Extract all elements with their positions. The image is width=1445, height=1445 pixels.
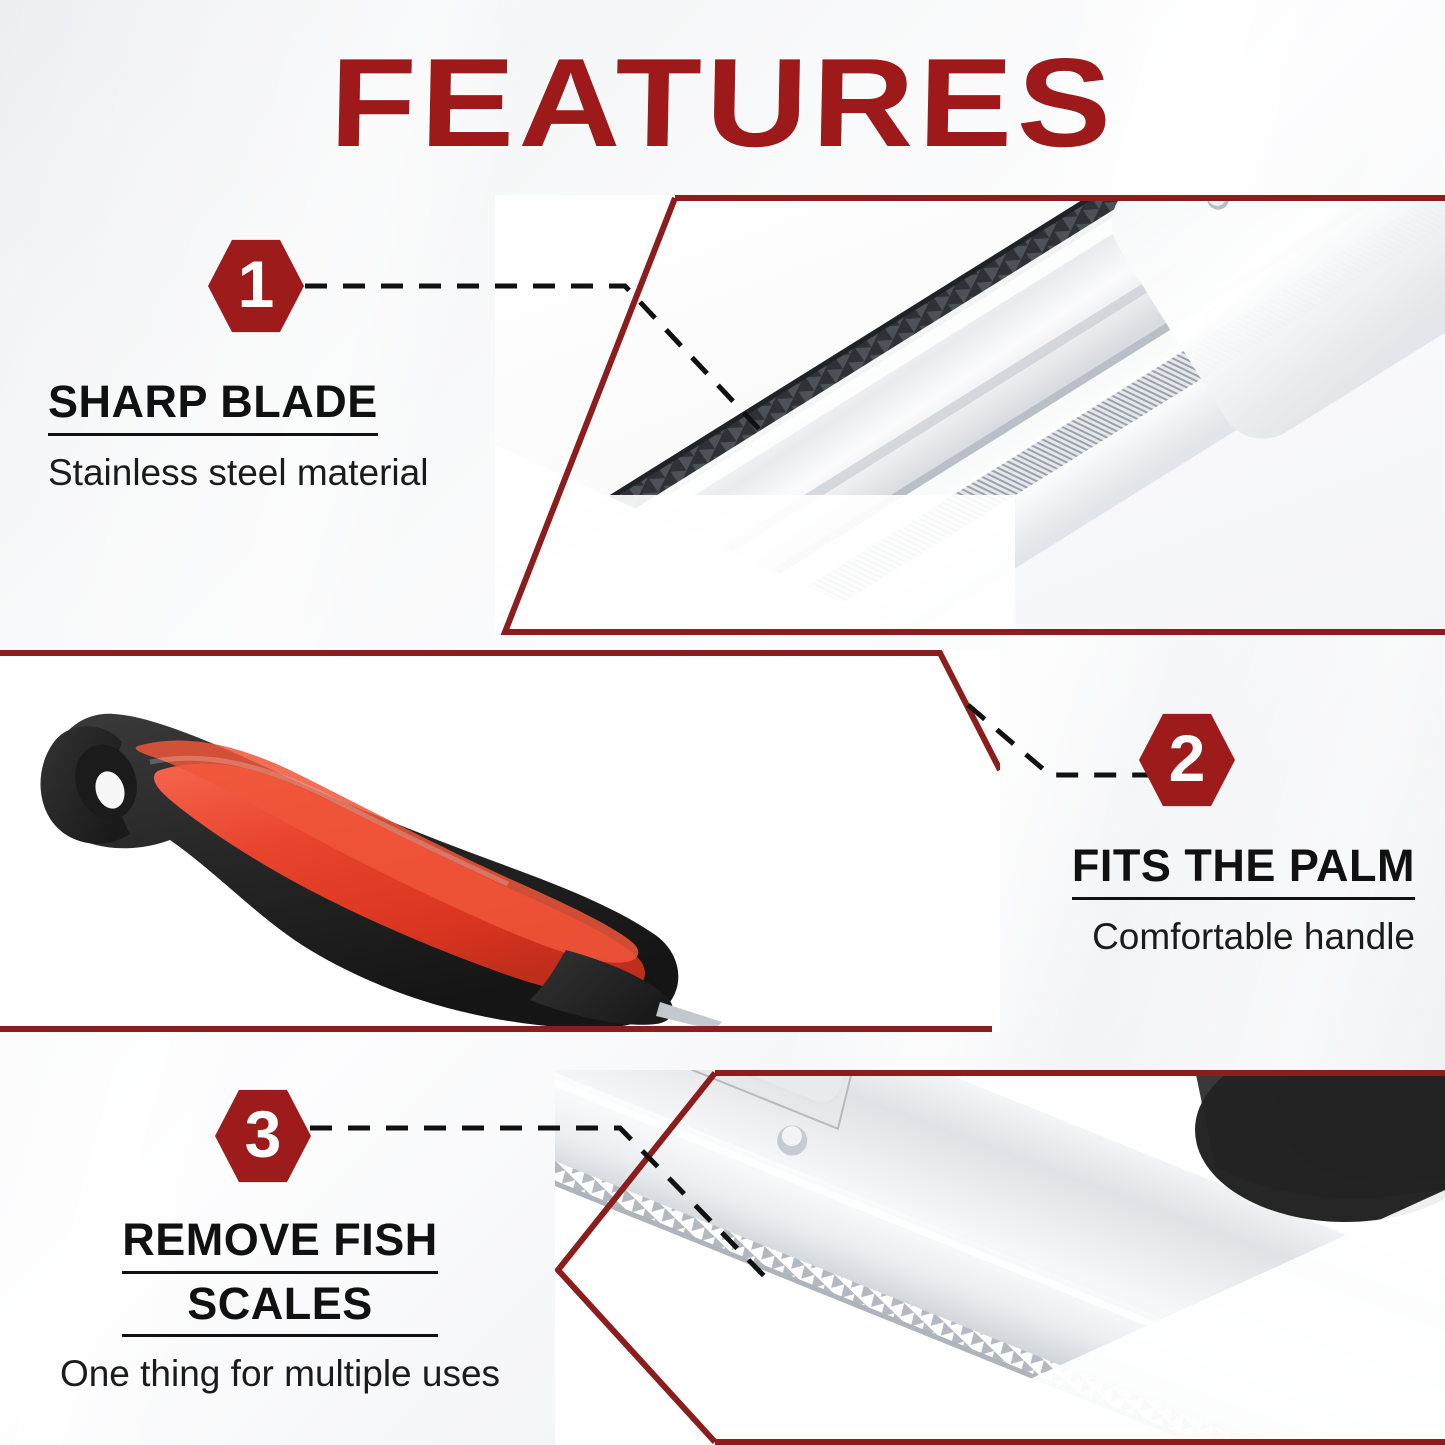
feature-badge-1: 1 <box>208 238 304 334</box>
feature-heading-2: FITS THE PALM <box>1072 842 1415 900</box>
feature-subtitle-2: Comfortable handle <box>1072 916 1415 958</box>
feature-number-3: 3 <box>245 1101 282 1167</box>
feature-heading-line: REMOVE FISH <box>122 1216 438 1274</box>
hexagon-badge-icon: 1 <box>208 238 304 334</box>
feature-subtitle-1: Stainless steel material <box>48 452 428 494</box>
hexagon-badge-icon: 2 <box>1139 712 1235 808</box>
feature-photo-panel-1 <box>495 195 1445 635</box>
hexagon-badge-icon: 3 <box>215 1088 311 1184</box>
feature-text-1: SHARP BLADE Stainless steel material <box>48 378 428 494</box>
feature-text-2: FITS THE PALM Comfortable handle <box>1072 842 1415 958</box>
panel-1-border <box>495 195 1445 635</box>
feature-text-3: REMOVE FISH SCALES One thing for multipl… <box>30 1216 530 1395</box>
feature-photo-panel-3 <box>555 1070 1445 1445</box>
feature-heading-1: SHARP BLADE <box>48 378 378 436</box>
feature-heading-line: SCALES <box>122 1280 438 1338</box>
panel-3-border <box>555 1070 1445 1445</box>
panel-2-border <box>0 650 1000 1032</box>
infographic-canvas: FEATURES <box>0 0 1445 1445</box>
feature-number-1: 1 <box>238 251 275 317</box>
feature-heading-line: SHARP BLADE <box>48 378 378 436</box>
feature-number-2: 2 <box>1169 725 1206 791</box>
feature-badge-2: 2 <box>1139 712 1235 808</box>
feature-heading-3: REMOVE FISH SCALES <box>122 1216 438 1337</box>
feature-badge-3: 3 <box>215 1088 311 1184</box>
page-title-wrap: FEATURES <box>0 40 1445 166</box>
feature-subtitle-3: One thing for multiple uses <box>30 1353 530 1395</box>
page-title: FEATURES <box>328 40 1116 166</box>
feature-photo-panel-2 <box>0 650 1000 1032</box>
feature-heading-line: FITS THE PALM <box>1072 842 1415 900</box>
